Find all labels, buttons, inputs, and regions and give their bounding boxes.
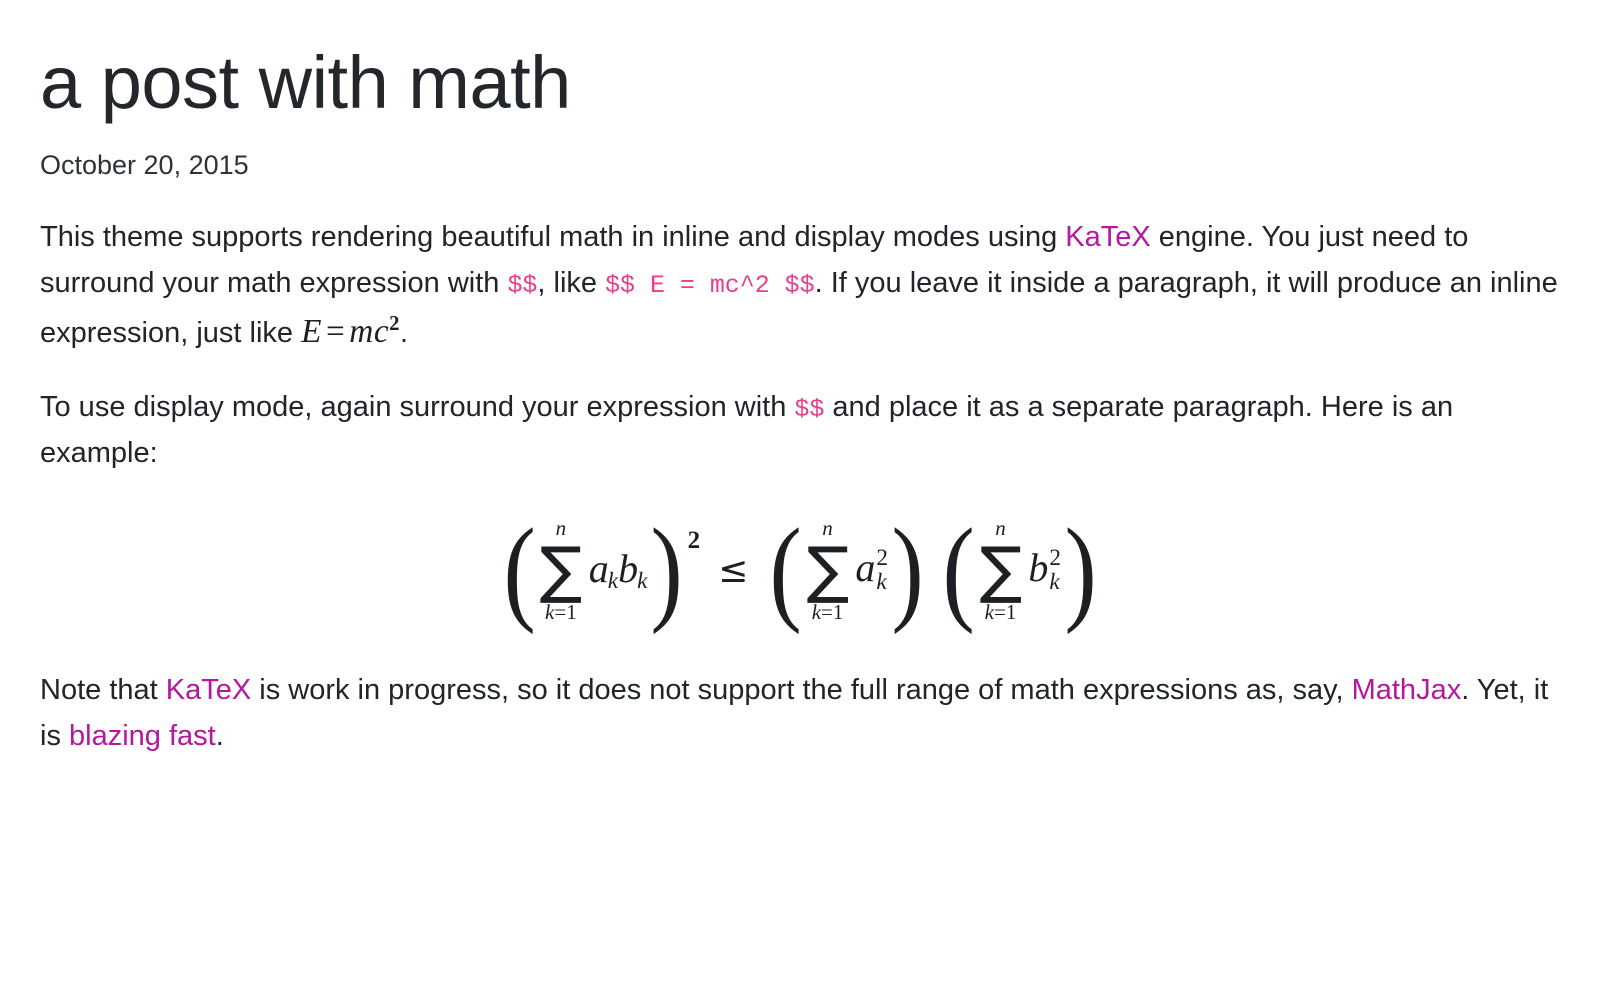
blazing-fast-link[interactable]: blazing fast (69, 720, 216, 752)
paren-left-icon: ( (770, 522, 802, 619)
term-bk-squared: b2k (1028, 544, 1061, 596)
math-group-2: ( n ∑ k=1 a2k ) (766, 517, 927, 624)
text-run: . (216, 720, 224, 752)
superscript-2: 2 (1049, 547, 1061, 570)
text-run: is work in progress, so it does not supp… (251, 674, 1351, 706)
term-akbk: akbk (589, 545, 648, 595)
summation-1: n ∑ k=1 (540, 517, 582, 624)
summation-3: n ∑ k=1 (980, 517, 1022, 624)
display-math-cauchy-schwarz: ( n ∑ k=1 akbk ) 2 ≤ ( n ∑ (40, 517, 1560, 624)
paren-left-icon: ( (503, 522, 535, 619)
paren-right-icon: ) (651, 522, 683, 619)
sigma-icon: ∑ (806, 541, 849, 600)
text-run: To use display mode, again surround your… (40, 391, 794, 423)
katex-link[interactable]: KaTeX (166, 674, 251, 706)
post-page: a post with math October 20, 2015 This t… (0, 0, 1600, 759)
text-run: , like (537, 267, 605, 299)
subscript-k: k (637, 568, 647, 594)
post-body: This theme supports rendering beautiful … (40, 215, 1560, 760)
variable-b: b (1028, 545, 1048, 590)
inline-math-emc2: E=mc2 (301, 313, 400, 350)
superscript-2: 2 (876, 547, 888, 570)
text-run: This theme supports rendering beautiful … (40, 221, 1065, 253)
code-inline-example: $$ E = mc^2 $$ (605, 272, 815, 300)
subscript-k: k (876, 571, 886, 594)
sub-sup-stack: 2k (1049, 547, 1061, 594)
code-dollar-delimiter: $$ (507, 272, 537, 300)
page-title: a post with math (40, 44, 1560, 122)
sigma-icon: ∑ (979, 541, 1022, 600)
paren-right-icon: ) (892, 522, 924, 619)
relation-leq: ≤ (718, 550, 748, 591)
paren-right-icon: ) (1065, 522, 1097, 619)
subscript-k: k (1049, 571, 1059, 594)
variable-a: a (855, 545, 875, 590)
paren-left-icon: ( (943, 522, 975, 619)
subscript-k: k (608, 568, 618, 594)
sub-sup-stack: 2k (876, 547, 888, 594)
text-run: . (400, 317, 408, 349)
math-group-3: ( n ∑ k=1 b2k ) (939, 517, 1100, 624)
term-ak-squared: a2k (855, 544, 888, 596)
mathjax-link[interactable]: MathJax (1352, 674, 1462, 706)
variable-b: b (618, 546, 638, 591)
sigma-icon: ∑ (540, 541, 583, 600)
paragraph-note: Note that KaTeX is work in progress, so … (40, 668, 1560, 760)
text-run: Note that (40, 674, 166, 706)
exponent-2: 2 (688, 527, 701, 555)
variable-a: a (589, 546, 609, 591)
post-date: October 20, 2015 (40, 150, 1560, 181)
summation-2: n ∑ k=1 (807, 517, 849, 624)
paragraph-display-mode: To use display mode, again surround your… (40, 385, 1560, 477)
paragraph-intro: This theme supports rendering beautiful … (40, 215, 1560, 359)
katex-link[interactable]: KaTeX (1065, 221, 1150, 253)
code-dollar-delimiter: $$ (794, 396, 824, 424)
equation: ( n ∑ k=1 akbk ) 2 ≤ ( n ∑ (500, 517, 1101, 624)
math-group-1: ( n ∑ k=1 akbk ) 2 (500, 517, 700, 624)
